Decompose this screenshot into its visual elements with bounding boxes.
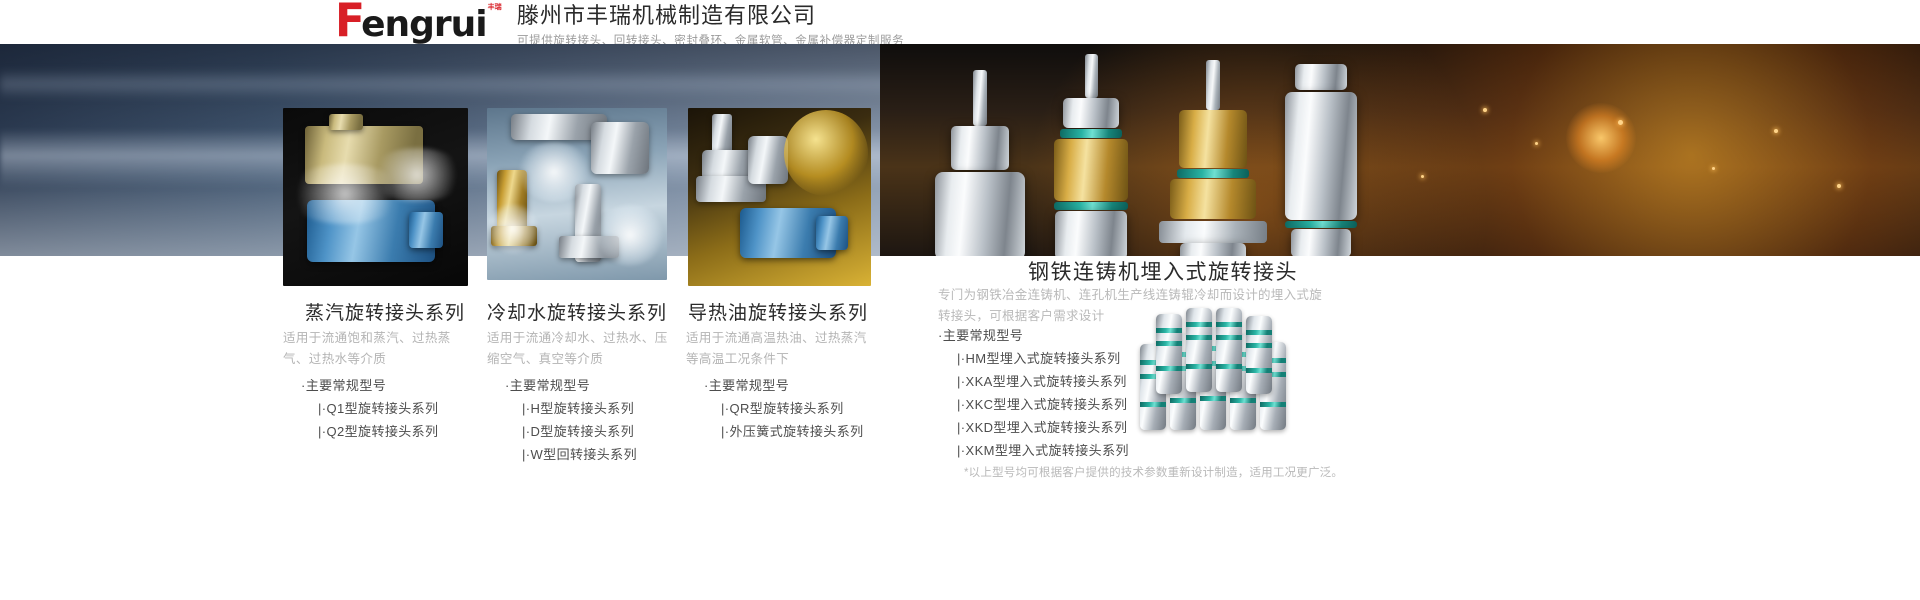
thermal-oil-rotary-joint-photo bbox=[688, 108, 871, 286]
rotary-joint-display-3 bbox=[1158, 60, 1268, 256]
steam-rotary-joint-photo bbox=[283, 108, 468, 286]
spark-icon bbox=[1535, 142, 1538, 145]
list-item[interactable]: |·Q2型旋转接头系列 bbox=[301, 420, 438, 443]
cooling-water-rotary-joint-photo bbox=[487, 108, 667, 280]
spark-icon bbox=[1712, 167, 1715, 170]
list-item[interactable]: |·XKA型埋入式旋转接头系列 bbox=[938, 370, 1129, 393]
rotary-joint-display-2 bbox=[1048, 54, 1134, 256]
list-item[interactable]: |·QR型旋转接头系列 bbox=[704, 397, 864, 420]
card-title: 蒸汽旋转接头系列 bbox=[305, 298, 465, 325]
panel-model-list: ·主要常规型号 |·HM型埋入式旋转接头系列 |·XKA型埋入式旋转接头系列 |… bbox=[938, 324, 1129, 462]
list-heading: ·主要常规型号 bbox=[505, 374, 637, 397]
rotary-joint-display-4 bbox=[1280, 64, 1362, 256]
forge-photo bbox=[880, 44, 1920, 256]
card-description: 适用于流通高温热油、过热蒸汽等高温工况条件下 bbox=[686, 328, 871, 370]
embedded-rotary-joint-cluster-photo bbox=[1128, 308, 1328, 438]
list-item[interactable]: |·HM型埋入式旋转接头系列 bbox=[938, 347, 1129, 370]
list-item[interactable]: |·XKM型埋入式旋转接头系列 bbox=[938, 439, 1129, 462]
header-text-block: 滕州市丰瑞机械制造有限公司 可提供旋转接头、回转接头、密封叠环、金属软管、金属补… bbox=[517, 3, 904, 49]
spark-icon bbox=[1837, 184, 1841, 188]
list-item[interactable]: |·W型回转接头系列 bbox=[505, 443, 637, 466]
card-title: 冷却水旋转接头系列 bbox=[487, 298, 667, 325]
card-model-list: ·主要常规型号 |·QR型旋转接头系列 |·外压簧式旋转接头系列 bbox=[704, 374, 864, 443]
spark-icon bbox=[1483, 108, 1487, 112]
list-item[interactable]: |·外压簧式旋转接头系列 bbox=[704, 420, 864, 443]
site-header: F engrui 丰瑞 滕州市丰瑞机械制造有限公司 可提供旋转接头、回转接头、密… bbox=[0, 0, 1920, 48]
logo-superscript: 丰瑞 bbox=[488, 4, 502, 12]
list-heading: ·主要常规型号 bbox=[301, 374, 438, 397]
list-item[interactable]: |·XKC型埋入式旋转接头系列 bbox=[938, 393, 1129, 416]
rotary-joint-display-1 bbox=[932, 70, 1028, 256]
panel-note: *以上型号均可根据客户提供的技术参数重新设计制造，适用工况更广泛。 bbox=[964, 464, 1343, 480]
card-title: 导热油旋转接头系列 bbox=[688, 298, 868, 325]
card-model-list: ·主要常规型号 |·H型旋转接头系列 |·D型旋转接头系列 |·W型回转接头系列 bbox=[505, 374, 637, 466]
company-name: 滕州市丰瑞机械制造有限公司 bbox=[517, 3, 904, 29]
list-item[interactable]: |·D型旋转接头系列 bbox=[505, 420, 637, 443]
list-heading: ·主要常规型号 bbox=[938, 324, 1129, 347]
company-logo[interactable]: F engrui 丰瑞 bbox=[335, 2, 502, 48]
logo-letter-f: F bbox=[335, 1, 363, 43]
list-item[interactable]: |·H型旋转接头系列 bbox=[505, 397, 637, 420]
logo-wordmark: engrui bbox=[361, 2, 487, 48]
list-heading: ·主要常规型号 bbox=[704, 374, 864, 397]
promo-banner-page: F engrui 丰瑞 滕州市丰瑞机械制造有限公司 可提供旋转接头、回转接头、密… bbox=[0, 0, 1920, 600]
forge-background bbox=[880, 44, 1920, 256]
panel-title: 钢铁连铸机埋入式旋转接头 bbox=[1028, 256, 1298, 286]
card-description: 适用于流通饱和蒸汽、过热蒸气、过热水等介质 bbox=[283, 328, 463, 370]
list-item[interactable]: |·Q1型旋转接头系列 bbox=[301, 397, 438, 420]
content-area: 蒸汽旋转接头系列 适用于流通饱和蒸汽、过热蒸气、过热水等介质 ·主要常规型号 |… bbox=[0, 256, 1920, 600]
card-model-list: ·主要常规型号 |·Q1型旋转接头系列 |·Q2型旋转接头系列 bbox=[301, 374, 438, 443]
card-description: 适用于流通冷却水、过热水、压缩空气、真空等介质 bbox=[487, 328, 672, 370]
list-item[interactable]: |·XKD型埋入式旋转接头系列 bbox=[938, 416, 1129, 439]
